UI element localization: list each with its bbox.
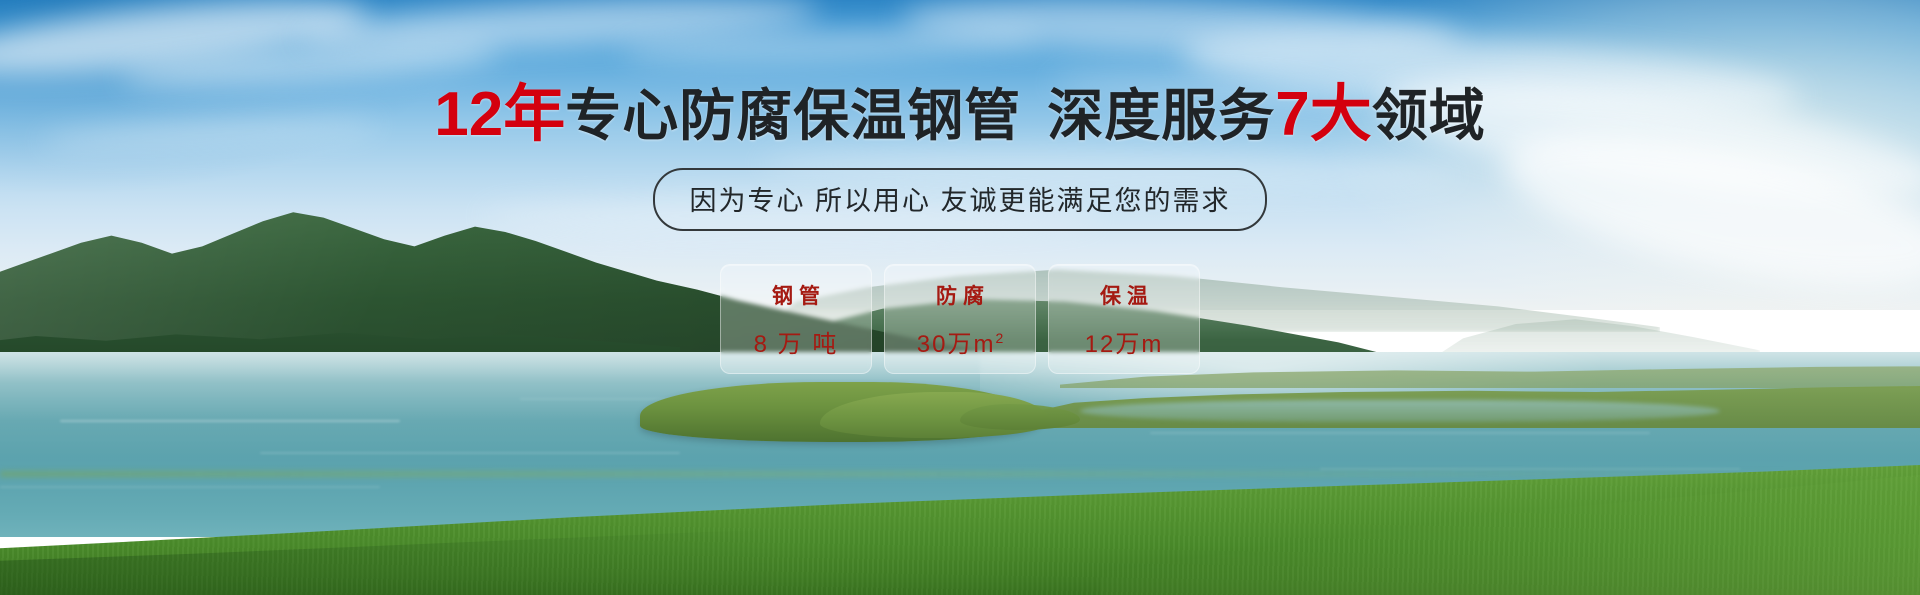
headline-years: 12年 [434,80,565,149]
stat-card-anticorrosion[interactable]: 防腐 30万m2 [884,264,1036,374]
headline-specialty: 专心防腐保温钢管 [565,84,1021,147]
headline-seven-fields: 7大 [1275,80,1371,149]
stat-card-label: 保温 [1094,280,1154,310]
stat-card-value: 8 万 吨 [754,324,839,359]
headline-fields: 领域 [1372,84,1486,147]
headline-service: 深度服务 [1047,84,1275,147]
water-ripple [60,420,400,422]
stat-card-value: 30万m2 [917,324,1003,359]
stat-card-steel-pipe[interactable]: 钢管 8 万 吨 [720,264,872,374]
marsh-water-channel [1080,400,1720,422]
stat-card-value-main: 30万m [917,331,996,358]
stat-card-insulation[interactable]: 保温 12万m [1048,264,1200,374]
banner-headline: 12年专心防腐保温钢管深度服务7大领域 [0,82,1920,147]
stat-cards-row: 钢管 8 万 吨 防腐 30万m2 保温 12万m [0,264,1920,374]
water-ripple [1320,468,1740,470]
water-ripple [0,486,380,488]
tagline-pill: 因为专心 所以用心 友诚更能满足您的需求 [653,168,1266,231]
tagline-container: 因为专心 所以用心 友诚更能满足您的需求 [0,168,1920,231]
stat-card-label: 钢管 [766,280,826,310]
stat-card-value-main: 8 万 吨 [754,331,839,358]
stat-card-label: 防腐 [930,280,990,310]
stat-card-value-main: 12万m [1085,331,1164,358]
stat-card-value: 12万m [1085,324,1164,359]
water-ripple [1150,432,1650,434]
stat-card-value-superscript: 2 [995,330,1003,346]
water-ripple [260,452,680,454]
hero-banner: 12年专心防腐保温钢管深度服务7大领域 因为专心 所以用心 友诚更能满足您的需求… [0,0,1920,595]
